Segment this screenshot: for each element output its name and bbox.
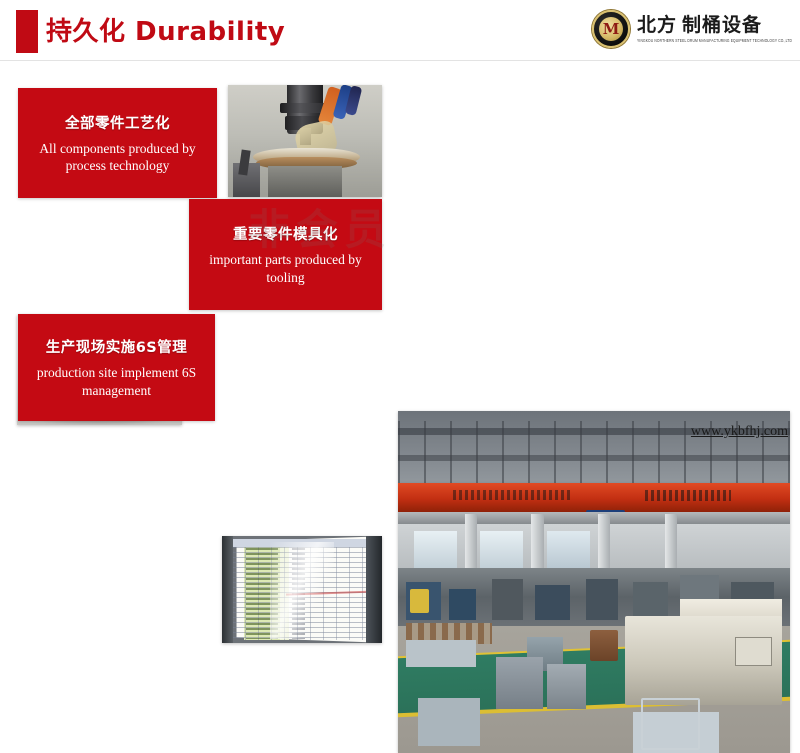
- website-link[interactable]: www.ykbfhj.com: [691, 424, 788, 440]
- feature-title-cn-3: 生产现场实施6S管理: [46, 336, 188, 357]
- monitor-bezel-right: [366, 536, 382, 643]
- title-accent-bar: [16, 10, 38, 53]
- feature-title-en-3: production site implement 6S management: [18, 364, 215, 399]
- logo-emblem-ring: M: [599, 17, 623, 41]
- factory-machine-2: [449, 589, 476, 620]
- feature-title-cn-2: 重要零件模具化: [233, 223, 338, 244]
- monitor-bezel-left: [222, 536, 233, 643]
- logo-name-cn-part2: 制桶设备: [682, 14, 762, 36]
- header-divider: [0, 60, 800, 61]
- six-s-spreadsheet-photo: [222, 536, 382, 643]
- logo-name-en: YINGKOU NORTHERN STEEL DRUM MANUFACTURIN…: [637, 38, 792, 43]
- cnc-machining-photo: [228, 85, 382, 197]
- crane-banner-text: [453, 490, 571, 500]
- feature-title-cn-1: 全部零件工艺化: [65, 112, 170, 133]
- factory-metal-frame: [641, 698, 700, 750]
- logo-name-cn-part1: 北方: [637, 14, 677, 36]
- factory-truss-beam-2: [398, 455, 790, 460]
- monitor-glare: [270, 542, 334, 638]
- factory-machine-6: [633, 582, 668, 620]
- factory-work-table-1: [406, 640, 477, 667]
- factory-crate-1: [496, 657, 543, 708]
- factory-window-3: [547, 531, 590, 569]
- factory-crate-2: [547, 664, 586, 708]
- factory-machine-3: [492, 579, 523, 620]
- cnc-machine-base: [268, 166, 342, 197]
- feature-card-all-components: 全部零件工艺化 All components produced by proce…: [18, 88, 217, 198]
- feature-title-en-2: important parts produced by tooling: [189, 251, 382, 286]
- logo-text-block: 北方制桶设备 YINGKOU NORTHERN STEEL DRUM MANUF…: [637, 16, 792, 42]
- factory-workshop-photo: [398, 411, 790, 753]
- page-title: 持久化 Durability: [46, 11, 285, 48]
- feature-card-important-parts: 重要零件模具化 important parts produced by tool…: [189, 199, 382, 310]
- logo-name-cn: 北方制桶设备: [637, 16, 792, 36]
- factory-barrel: [590, 630, 617, 661]
- factory-work-table-2: [418, 698, 481, 746]
- crane-phone-number: [645, 490, 731, 501]
- factory-machine-4: [535, 585, 570, 619]
- feature-title-en-1: All components produced by process techn…: [18, 140, 217, 175]
- factory-cnc-control-panel: [735, 637, 772, 666]
- company-logo: M 北方制桶设备 YINGKOU NORTHERN STEEL DRUM MAN…: [592, 6, 792, 52]
- logo-emblem-letter: M: [603, 22, 620, 37]
- factory-machine-5: [586, 579, 617, 620]
- slide-root: 持久化 Durability M 北方制桶设备 YINGKOU NORTHERN…: [0, 0, 800, 450]
- factory-window-2: [480, 531, 523, 569]
- factory-window-1: [414, 531, 457, 569]
- factory-yellow-equipment: [410, 589, 430, 613]
- logo-emblem-icon: M: [592, 10, 630, 48]
- feature-card-six-s: 生产现场实施6S管理 production site implement 6S …: [18, 314, 215, 421]
